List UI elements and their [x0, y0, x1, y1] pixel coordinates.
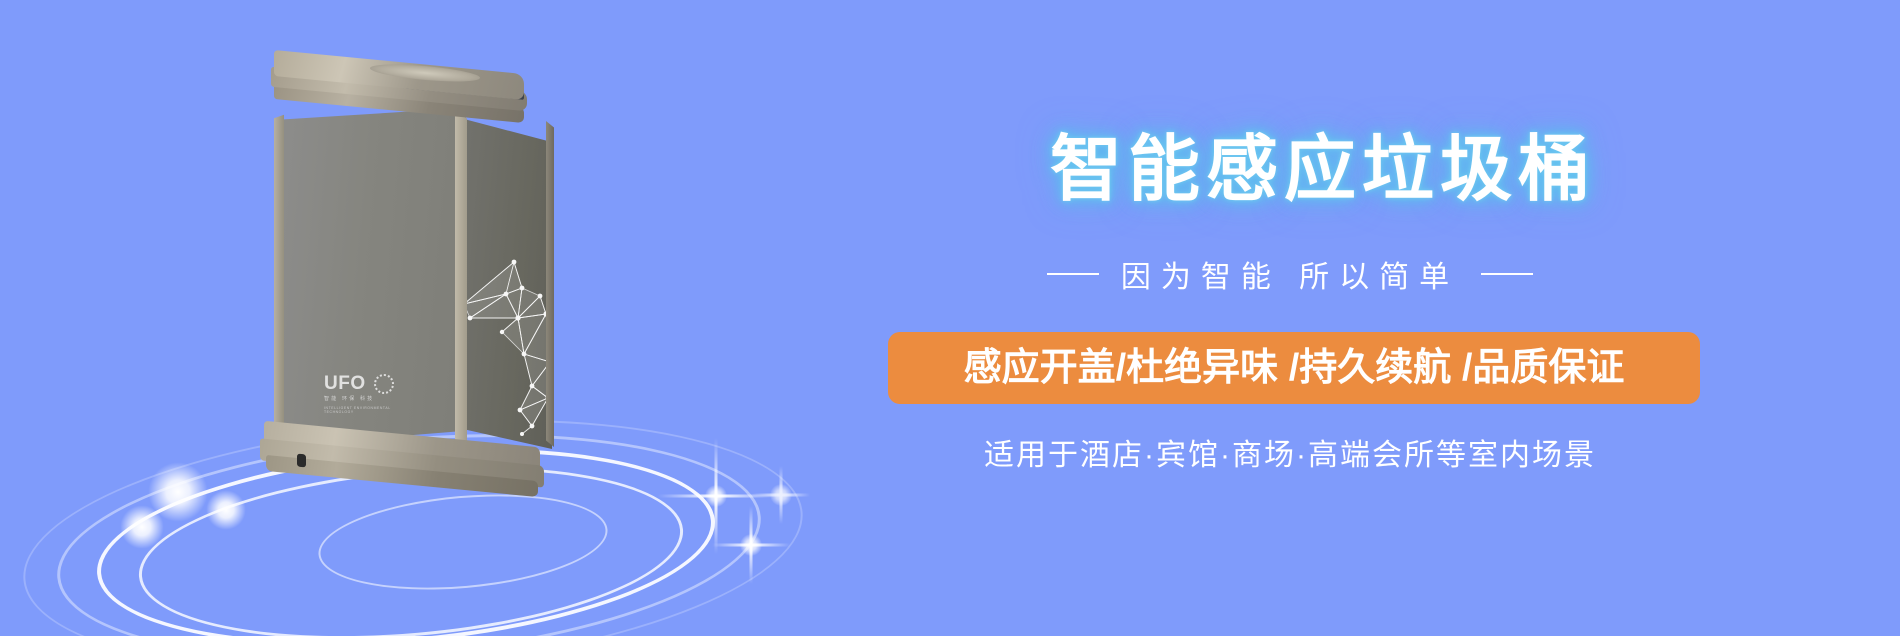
brand-logo-cn: 智能 环保 科技	[324, 395, 402, 402]
bin-lock-icon	[297, 454, 306, 468]
bin-edge-right	[546, 121, 554, 447]
glow-dot-icon	[206, 490, 246, 530]
brand-logo: UFO 智能 环保 科技 INTELLIGENT ENVIRONMENTAL T…	[324, 374, 402, 420]
promo-banner: UFO 智能 环保 科技 INTELLIGENT ENVIRONMENTAL T…	[0, 0, 1900, 636]
glow-dot-icon	[120, 505, 164, 549]
page-title: 智能感应垃圾桶	[1050, 134, 1596, 206]
bin-edge-center	[455, 111, 467, 451]
use-scenes-text: 适用于酒店·宾馆·商场·高端会所等室内场景	[880, 430, 1700, 474]
trash-bin-image: UFO 智能 环保 科技 INTELLIGENT ENVIRONMENTAL T…	[252, 62, 552, 492]
logo-ring-icon	[374, 374, 394, 394]
polygon-network-graphic	[462, 222, 558, 452]
subtitle-rule-left	[1047, 273, 1099, 275]
brand-logo-en: INTELLIGENT ENVIRONMENTAL TECHNOLOGY	[324, 406, 402, 414]
copy-block: 智能感应垃圾桶 因为智能 所以简单 感应开盖/杜绝异味 /持久续航 /品质保证 …	[880, 0, 1900, 636]
subtitle-row: 因为智能 所以简单	[880, 252, 1700, 296]
product-scene: UFO 智能 环保 科技 INTELLIGENT ENVIRONMENTAL T…	[0, 0, 860, 636]
subtitle-text: 因为智能 所以简单	[1121, 252, 1459, 296]
bin-edge-left	[274, 108, 284, 448]
features-text: 感应开盖/杜绝异味 /持久续航 /品质保证	[964, 349, 1625, 387]
features-badge: 感应开盖/杜绝异味 /持久续航 /品质保证	[888, 332, 1700, 404]
sparkle-icon	[752, 466, 810, 524]
subtitle-rule-right	[1481, 273, 1533, 275]
